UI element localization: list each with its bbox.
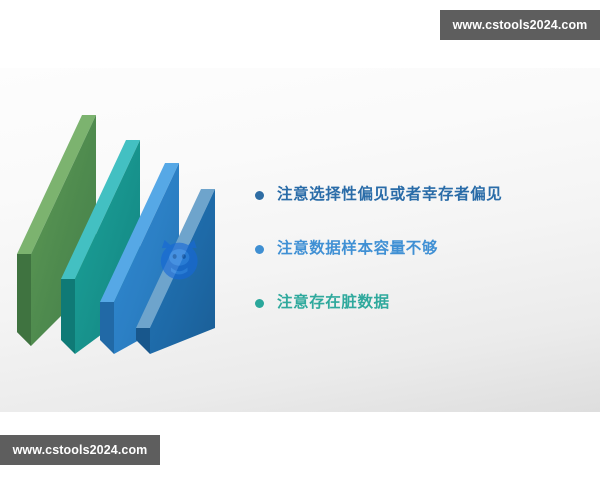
- watermark-top: www.cstools2024.com: [440, 10, 600, 40]
- bullet-dot-icon-2: [255, 245, 264, 254]
- bullet-dot-icon-3: [255, 299, 264, 308]
- watermark-bottom: www.cstools2024.com: [0, 435, 160, 465]
- slide-canvas: 注意选择性偏见或者幸存者偏见 注意数据样本容量不够 注意存在脏数据: [0, 68, 600, 412]
- bullet-label-3: 注意存在脏数据: [277, 294, 390, 313]
- bullet-list: 注意选择性偏见或者幸存者偏见 注意数据样本容量不够 注意存在脏数据: [255, 168, 585, 330]
- watermark-top-text: www.cstools2024.com: [453, 18, 588, 32]
- bullet-label-2: 注意数据样本容量不够: [277, 240, 438, 259]
- stacked-3d-panels-graphic: [8, 106, 238, 356]
- devil-bug-icon: [161, 240, 198, 280]
- bullet-item-2: 注意数据样本容量不够: [255, 222, 585, 276]
- bullet-label-1: 注意选择性偏见或者幸存者偏见: [277, 186, 502, 205]
- bullet-item-3: 注意存在脏数据: [255, 276, 585, 330]
- bullet-dot-icon-1: [255, 191, 264, 200]
- watermark-bottom-text: www.cstools2024.com: [13, 443, 148, 457]
- bullet-item-1: 注意选择性偏见或者幸存者偏见: [255, 168, 585, 222]
